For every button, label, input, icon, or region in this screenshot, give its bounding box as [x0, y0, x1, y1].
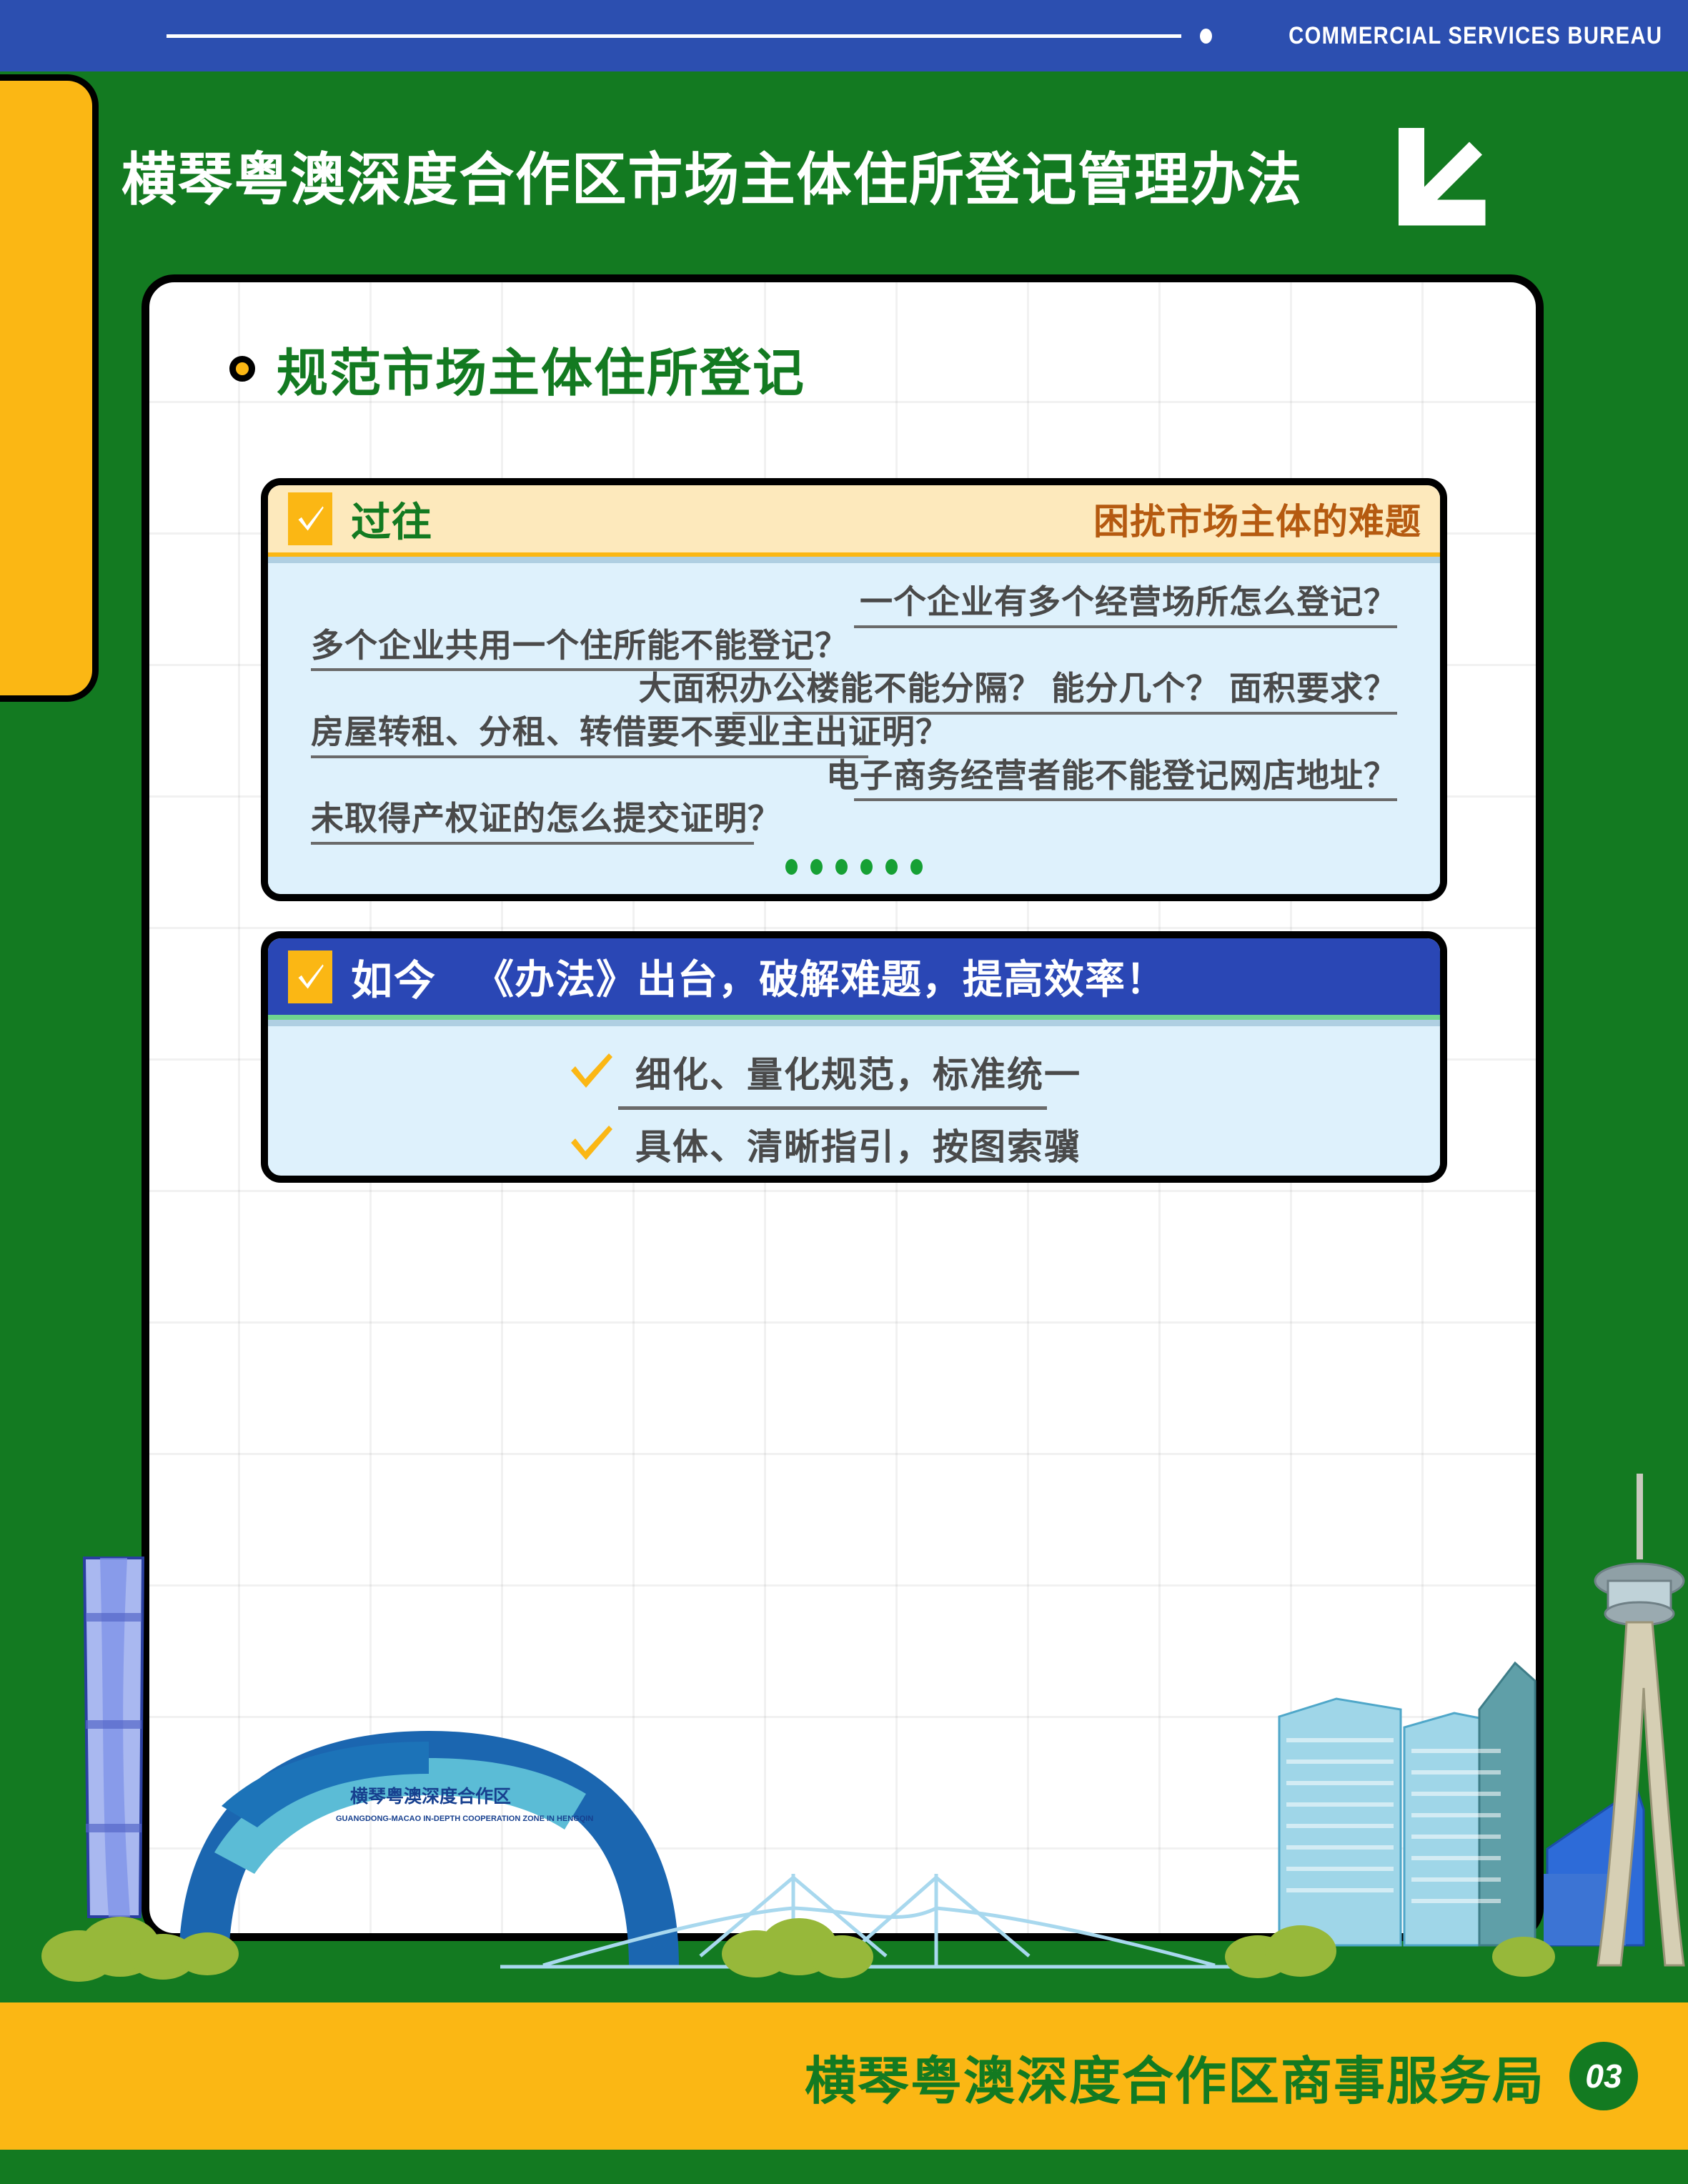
ellipsis-dot-icon — [785, 859, 798, 875]
footer-bar: 横琴粤澳深度合作区商事服务局 03 — [0, 2002, 1688, 2150]
top-bar-rule — [167, 34, 1181, 38]
question-row: 未取得产权证的怎么提交证明？ — [311, 801, 1397, 845]
past-subtitle: 困扰市场主体的难题 — [1093, 493, 1421, 545]
question-row: 大面积办公楼能不能分隔？ 能分几个？ 面积要求？ — [311, 671, 1397, 715]
question-label: 电子商务经营者能不能登记网店地址？ — [826, 758, 1397, 794]
question-underline — [854, 798, 1397, 801]
question-underline — [854, 625, 1397, 628]
past-panel-header: 过往 困扰市场主体的难题 — [268, 485, 1440, 557]
section-heading: 规范市场主体住所登记 — [142, 331, 1480, 406]
past-panel-body: 一个企业有多个经营场所怎么登记？多个企业共用一个住所能不能登记？大面积办公楼能不… — [268, 557, 1440, 901]
question-row: 一个企业有多个经营场所怎么登记？ — [311, 585, 1397, 628]
brand-label: COMMERCIAL SERVICES BUREAU — [1289, 22, 1662, 50]
question-underline — [311, 755, 868, 758]
section-title: 规范市场主体住所登记 — [277, 331, 805, 406]
question-label: 未取得产权证的怎么提交证明？ — [311, 801, 781, 837]
question-label: 大面积办公楼能不能分隔？ 能分几个？ 面积要求？ — [638, 671, 1397, 707]
now-panel-body: 细化、量化规范，标准统一 具体、清晰指引，按图索骥 — [268, 1020, 1440, 1170]
footer-org-label: 横琴粤澳深度合作区商事服务局 — [805, 2039, 1545, 2114]
divider — [618, 1106, 1047, 1110]
macau-tower-icon — [1595, 1474, 1684, 1965]
content-card: 规范市场主体住所登记 过往 困扰市场主体的难题 一个企业有多个经营场所怎么登记？… — [142, 274, 1544, 1941]
orange-dot-icon — [229, 356, 255, 382]
check-mark-icon — [568, 1124, 618, 1165]
page-title: 横琴粤澳深度合作区市场主体住所登记管理办法 — [121, 134, 1303, 217]
question-row: 房屋转租、分租、转借要不要业主出证明？ — [311, 715, 1397, 758]
list-item-label: 细化、量化规范，标准统一 — [635, 1046, 1081, 1098]
question-underline — [311, 842, 754, 845]
now-label: 如今 — [351, 947, 437, 1007]
past-label: 过往 — [351, 490, 432, 548]
bullet-dot-icon — [1200, 29, 1212, 44]
page-number-badge: 03 — [1569, 2042, 1638, 2110]
now-panel: 如今 《办法》出台，破解难题，提高效率！ 细化、量化规范，标准统一 具体、清晰指… — [261, 931, 1447, 1183]
arrow-down-left-icon — [1379, 121, 1486, 229]
list-item: 具体、清晰指引，按图索骥 — [268, 1118, 1440, 1170]
check-icon — [288, 492, 332, 545]
question-label: 一个企业有多个经营场所怎么登记？ — [860, 585, 1397, 620]
list-item: 细化、量化规范，标准统一 — [268, 1046, 1440, 1098]
ellipsis-dots — [311, 859, 1397, 875]
left-accent-panel — [0, 74, 99, 702]
ellipsis-dot-icon — [910, 859, 923, 875]
question-row: 电子商务经营者能不能登记网店地址？ — [311, 758, 1397, 802]
ellipsis-dot-icon — [885, 859, 898, 875]
ellipsis-dot-icon — [860, 859, 873, 875]
ellipsis-dot-icon — [835, 859, 848, 875]
check-mark-icon — [568, 1052, 618, 1093]
page-title-row: 横琴粤澳深度合作区市场主体住所登记管理办法 — [121, 107, 1637, 243]
top-bar: COMMERCIAL SERVICES BUREAU — [0, 0, 1688, 71]
now-subtitle: 《办法》出台，破解难题，提高效率！ — [474, 948, 1166, 1006]
past-panel: 过往 困扰市场主体的难题 一个企业有多个经营场所怎么登记？多个企业共用一个住所能… — [261, 478, 1447, 901]
footer-bottom-strip — [0, 2150, 1688, 2184]
question-label: 房屋转租、分租、转借要不要业主出证明？ — [311, 715, 949, 750]
list-item-label: 具体、清晰指引，按图索骥 — [635, 1118, 1081, 1170]
check-icon — [288, 950, 332, 1003]
now-panel-header: 如今 《办法》出台，破解难题，提高效率！ — [268, 938, 1440, 1020]
question-row: 多个企业共用一个住所能不能登记？ — [311, 628, 1397, 672]
question-label: 多个企业共用一个住所能不能登记？ — [311, 628, 848, 664]
tower-left-icon — [84, 1558, 143, 1917]
ellipsis-dot-icon — [810, 859, 823, 875]
